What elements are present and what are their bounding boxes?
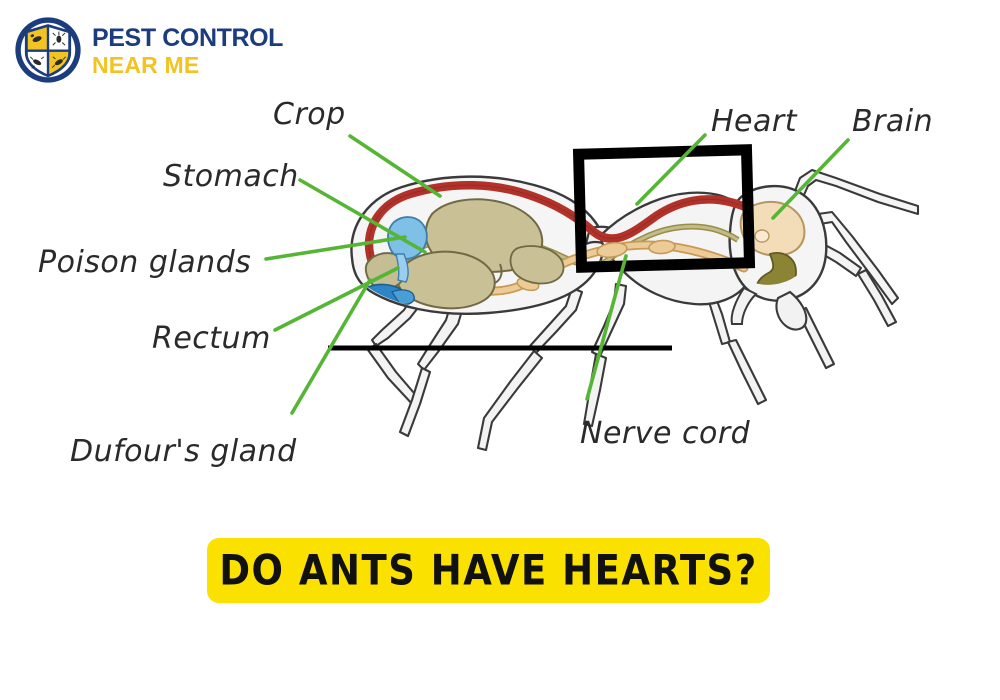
label-dufours-gland: Dufour's gland — [70, 434, 297, 469]
label-stomach: Stomach — [163, 159, 299, 194]
leader-line-crop — [350, 136, 440, 196]
ant-body-group — [351, 170, 918, 450]
leader-line-nerve-cord — [587, 256, 626, 399]
label-nerve-cord: Nerve cord — [580, 416, 751, 451]
label-brain: Brain — [852, 104, 933, 139]
label-rectum: Rectum — [152, 321, 271, 356]
label-heart: Heart — [711, 104, 798, 139]
label-poison-glands: Poison glands — [38, 245, 251, 280]
leader-line-rectum — [275, 268, 398, 330]
ant-anatomy-diagram: Crop Stomach Poison glands Rectum Dufour… — [0, 0, 1000, 520]
banner-title: DO ANTS HAVE HEARTS? — [219, 546, 757, 594]
label-crop: Crop — [273, 97, 346, 132]
ant-anatomy-svg: Crop Stomach Poison glands Rectum Dufour… — [0, 0, 1000, 520]
question-banner: DO ANTS HAVE HEARTS? — [207, 538, 770, 603]
